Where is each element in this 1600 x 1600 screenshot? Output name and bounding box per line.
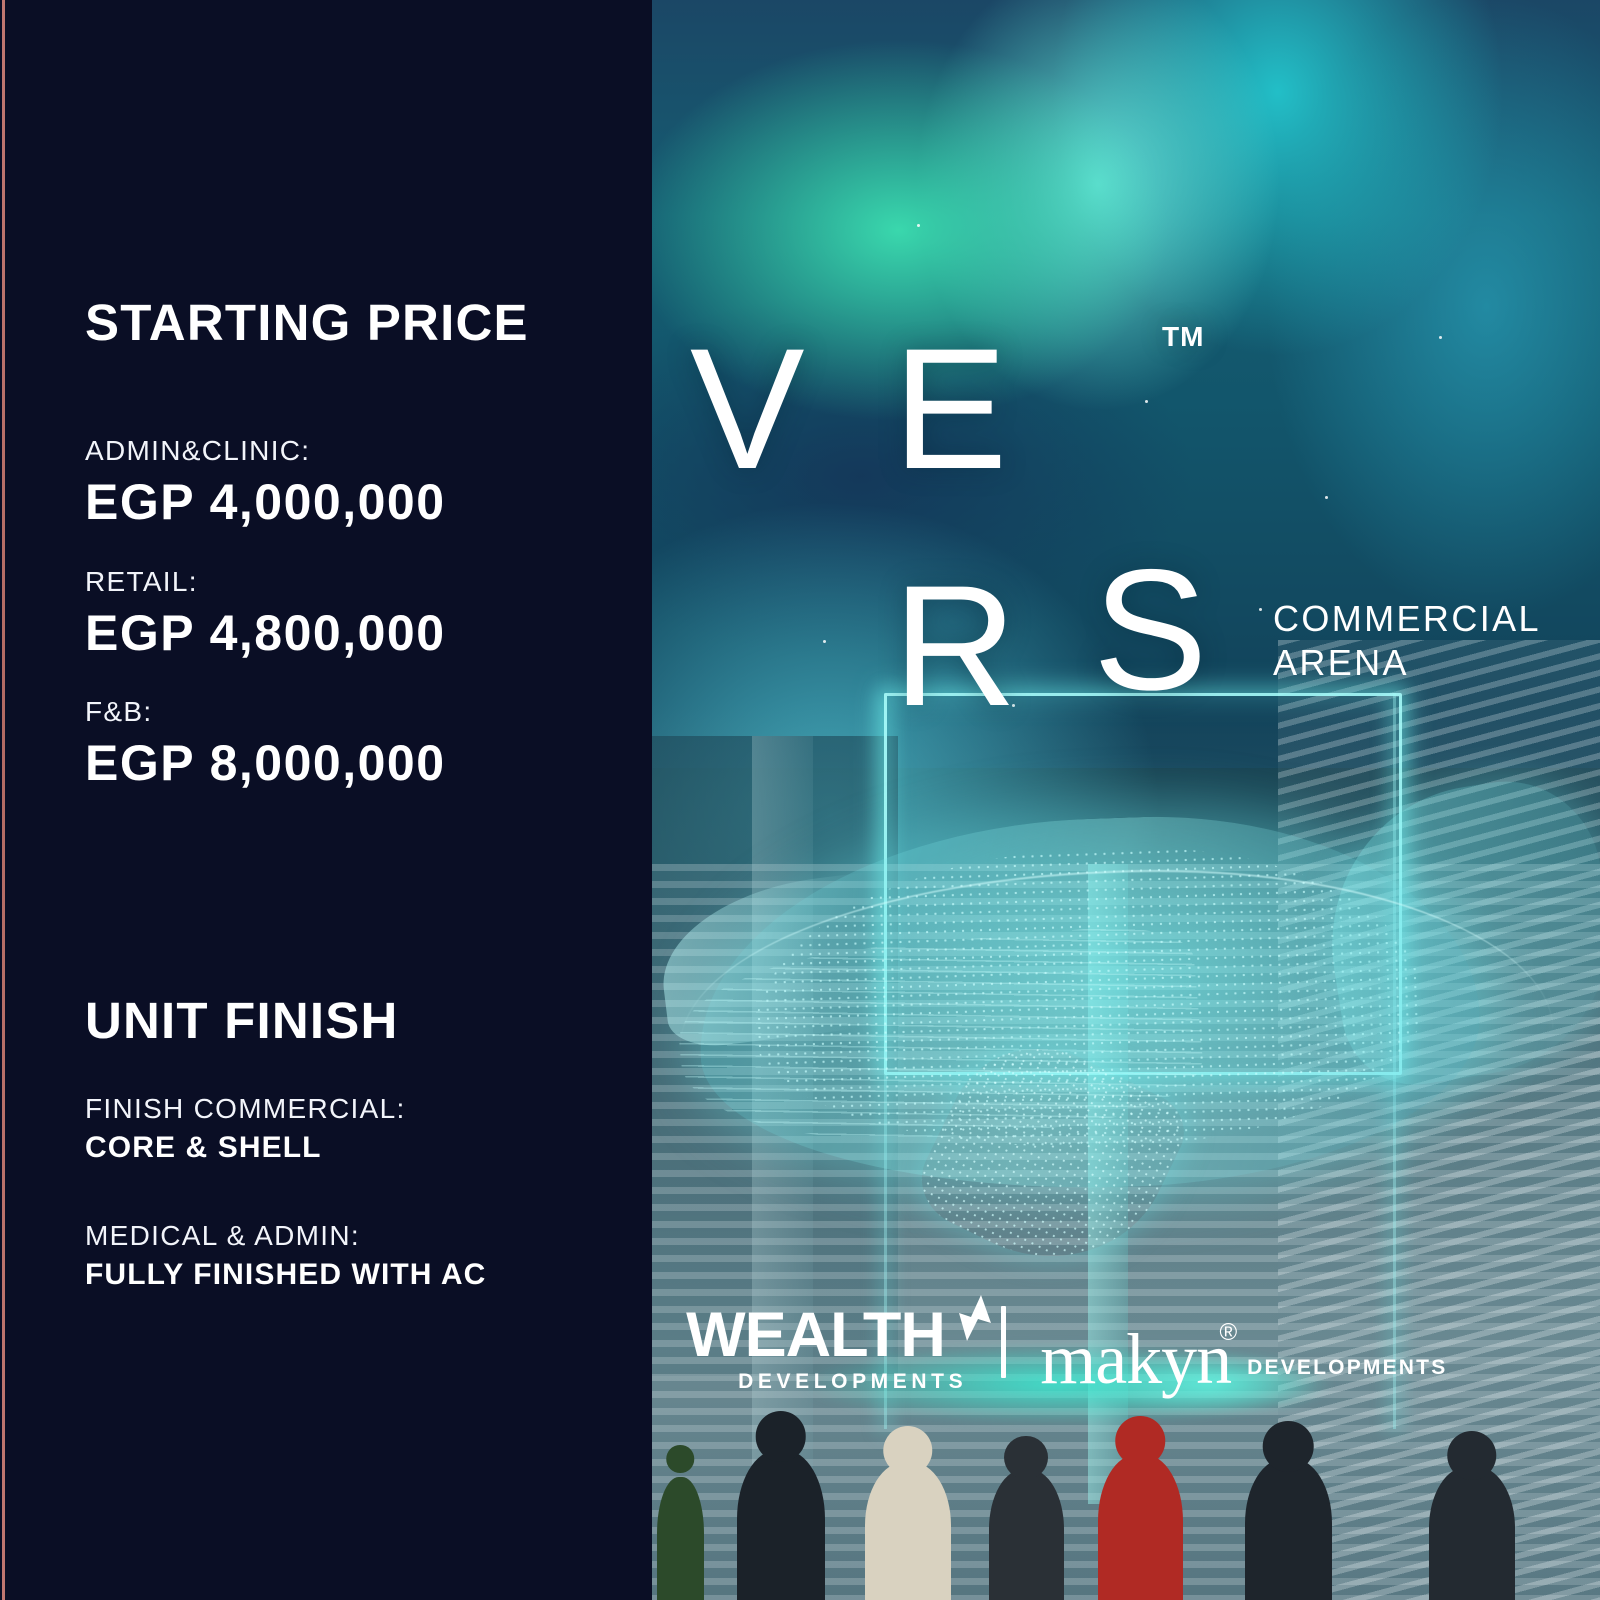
audience-figure-head (1004, 1436, 1048, 1480)
audience-figure (657, 1477, 704, 1600)
wealth-logo: WEALTH DEVELOPMENTS (686, 1307, 967, 1392)
audience-figure (1429, 1466, 1514, 1600)
price-row-label: ADMIN&CLINIC: (85, 437, 446, 465)
audience-figure-head (1447, 1431, 1496, 1480)
audience-figure (865, 1462, 950, 1600)
wealth-logo-tagline: DEVELOPMENTS (738, 1371, 967, 1392)
developer-logo-lockup: WEALTH DEVELOPMENTS makyn ® DEVELOPMENTS (686, 1306, 1447, 1392)
starting-price-heading: STARTING PRICE (85, 297, 529, 348)
price-row: ADMIN&CLINIC: EGP 4,000,000 (85, 437, 446, 527)
wordmark-letter-s: S (1093, 544, 1208, 716)
audience-silhouettes (652, 1408, 1600, 1600)
price-row-value: EGP 4,800,000 (85, 608, 446, 658)
finish-row-value: CORE & SHELL (85, 1133, 406, 1163)
subtitle-line-1: COMMERCIAL (1273, 597, 1541, 641)
wordmark-letter-e: E (893, 323, 1008, 495)
accent-edge-line (2, 0, 5, 1600)
spark-icon (947, 1291, 1001, 1345)
audience-figure-head (1263, 1421, 1314, 1472)
wordmark-letter-v: V (690, 323, 805, 495)
audience-figure (737, 1450, 824, 1600)
finish-row-value: FULLY FINISHED WITH AC (85, 1260, 486, 1290)
hero-visual-panel: V E R S TM COMMERCIAL ARENA WEALTH DEVEL… (652, 0, 1600, 1600)
finish-row-label: MEDICAL & ADMIN: (85, 1222, 486, 1250)
finish-row: FINISH COMMERCIAL: CORE & SHELL (85, 1095, 406, 1163)
price-row: RETAIL: EGP 4,800,000 (85, 568, 446, 658)
audience-figure (1245, 1458, 1332, 1600)
price-row-value: EGP 8,000,000 (85, 738, 446, 788)
wordmark-letter-r: R (893, 560, 1017, 732)
info-panel: STARTING PRICE ADMIN&CLINIC: EGP 4,000,0… (0, 0, 652, 1600)
audience-figure (989, 1469, 1065, 1600)
audience-figure-head (756, 1411, 807, 1462)
audience-figure-head (1115, 1416, 1164, 1465)
subtitle-line-2: ARENA (1273, 641, 1541, 685)
wealth-logo-wordmark: WEALTH (686, 1307, 967, 1365)
price-row-label: F&B: (85, 698, 446, 726)
audience-figure-head (883, 1426, 932, 1475)
unit-finish-heading: UNIT FINISH (85, 995, 399, 1046)
finish-row-label: FINISH COMMERCIAL: (85, 1095, 406, 1123)
makyn-logo-tagline: DEVELOPMENTS (1247, 1357, 1447, 1378)
registered-mark-icon: ® (1219, 1319, 1237, 1347)
price-row: F&B: EGP 8,000,000 (85, 698, 446, 788)
trademark-icon: TM (1162, 323, 1204, 351)
price-row-label: RETAIL: (85, 568, 446, 596)
promo-poster: STARTING PRICE ADMIN&CLINIC: EGP 4,000,0… (0, 0, 1600, 1600)
price-row-value: EGP 4,000,000 (85, 477, 446, 527)
finish-row: MEDICAL & ADMIN: FULLY FINISHED WITH AC (85, 1222, 486, 1290)
wordmark-subtitle: COMMERCIAL ARENA (1273, 597, 1541, 685)
audience-figure (1098, 1454, 1183, 1600)
audience-figure-head (667, 1445, 694, 1472)
logo-divider (1001, 1306, 1006, 1378)
makyn-logo-wordmark: makyn (1040, 1327, 1231, 1392)
makyn-logo: makyn ® DEVELOPMENTS (1040, 1327, 1447, 1392)
